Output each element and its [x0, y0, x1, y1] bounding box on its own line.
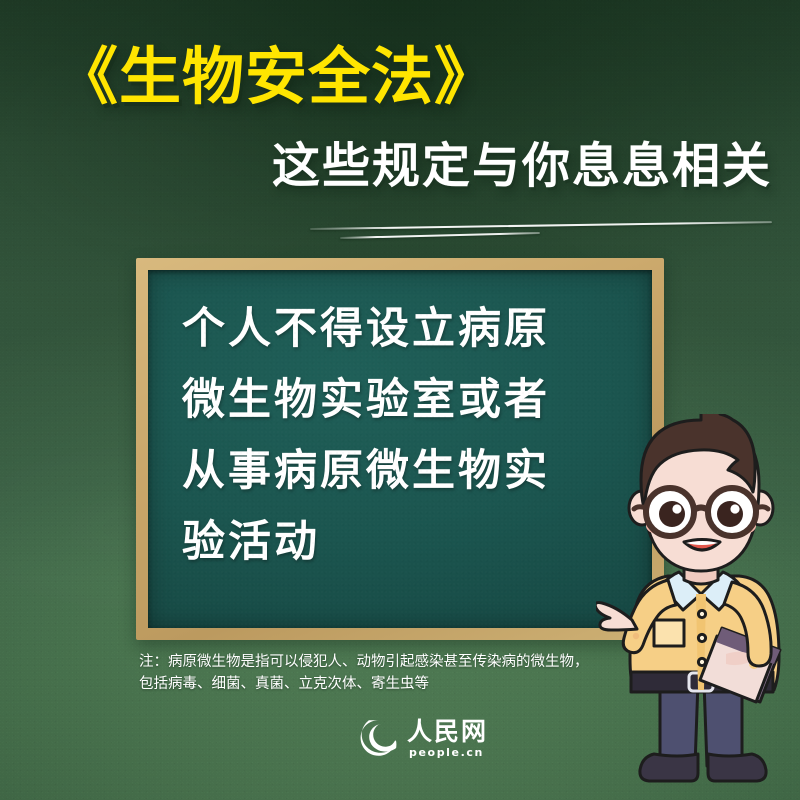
blackboard-line: 个人不得设立病原: [182, 294, 642, 365]
blackboard-surface: 个人不得设立病原 微生物实验室或者 从事病原微生物实 验活动: [148, 270, 652, 628]
poster-canvas: 《生物安全法》 这些规定与你息息相关 个人不得设立病原 微生物实验室或者 从事病…: [0, 0, 800, 800]
shirt-pocket: [654, 620, 684, 646]
footnote-line: 包括病毒、细菌、真菌、立克次体、寄生虫等: [139, 673, 609, 695]
footnote-line: 注：病原微生物是指可以侵犯人、动物引起感染甚至传染病的微生物，: [139, 651, 609, 673]
blackboard-line: 微生物实验室或者: [182, 365, 642, 436]
logo-wordmark: 人民网 people.cn: [407, 719, 488, 758]
page-title: 《生物安全法》: [56, 46, 497, 108]
logo-name-en: people.cn: [409, 747, 484, 758]
blackboard: 个人不得设立病原 微生物实验室或者 从事病原微生物实 验活动: [136, 258, 664, 640]
shoe-right: [708, 754, 766, 781]
footnote-note: 注：病原微生物是指可以侵犯人、动物引起感染甚至传染病的微生物， 包括病毒、细菌、…: [139, 651, 609, 695]
globe-swirl-icon: [358, 718, 398, 758]
shoe-left: [640, 754, 698, 781]
blackboard-line: 验活动: [182, 507, 642, 578]
logo-name-cn: 人民网: [407, 719, 488, 744]
shirt-button: [698, 634, 705, 641]
cuff-dot-left: [633, 633, 639, 639]
blackboard-line: 从事病原微生物实: [182, 436, 642, 507]
leg-left: [660, 682, 698, 766]
blackboard-text: 个人不得设立病原 微生物实验室或者 从事病原微生物实 验活动: [182, 294, 642, 578]
shirt-button: [698, 610, 705, 617]
cartoon-boy-illustration: [596, 414, 800, 800]
page-subtitle: 这些规定与你息息相关: [272, 142, 772, 190]
people-cn-logo: 人民网 people.cn: [358, 718, 488, 758]
